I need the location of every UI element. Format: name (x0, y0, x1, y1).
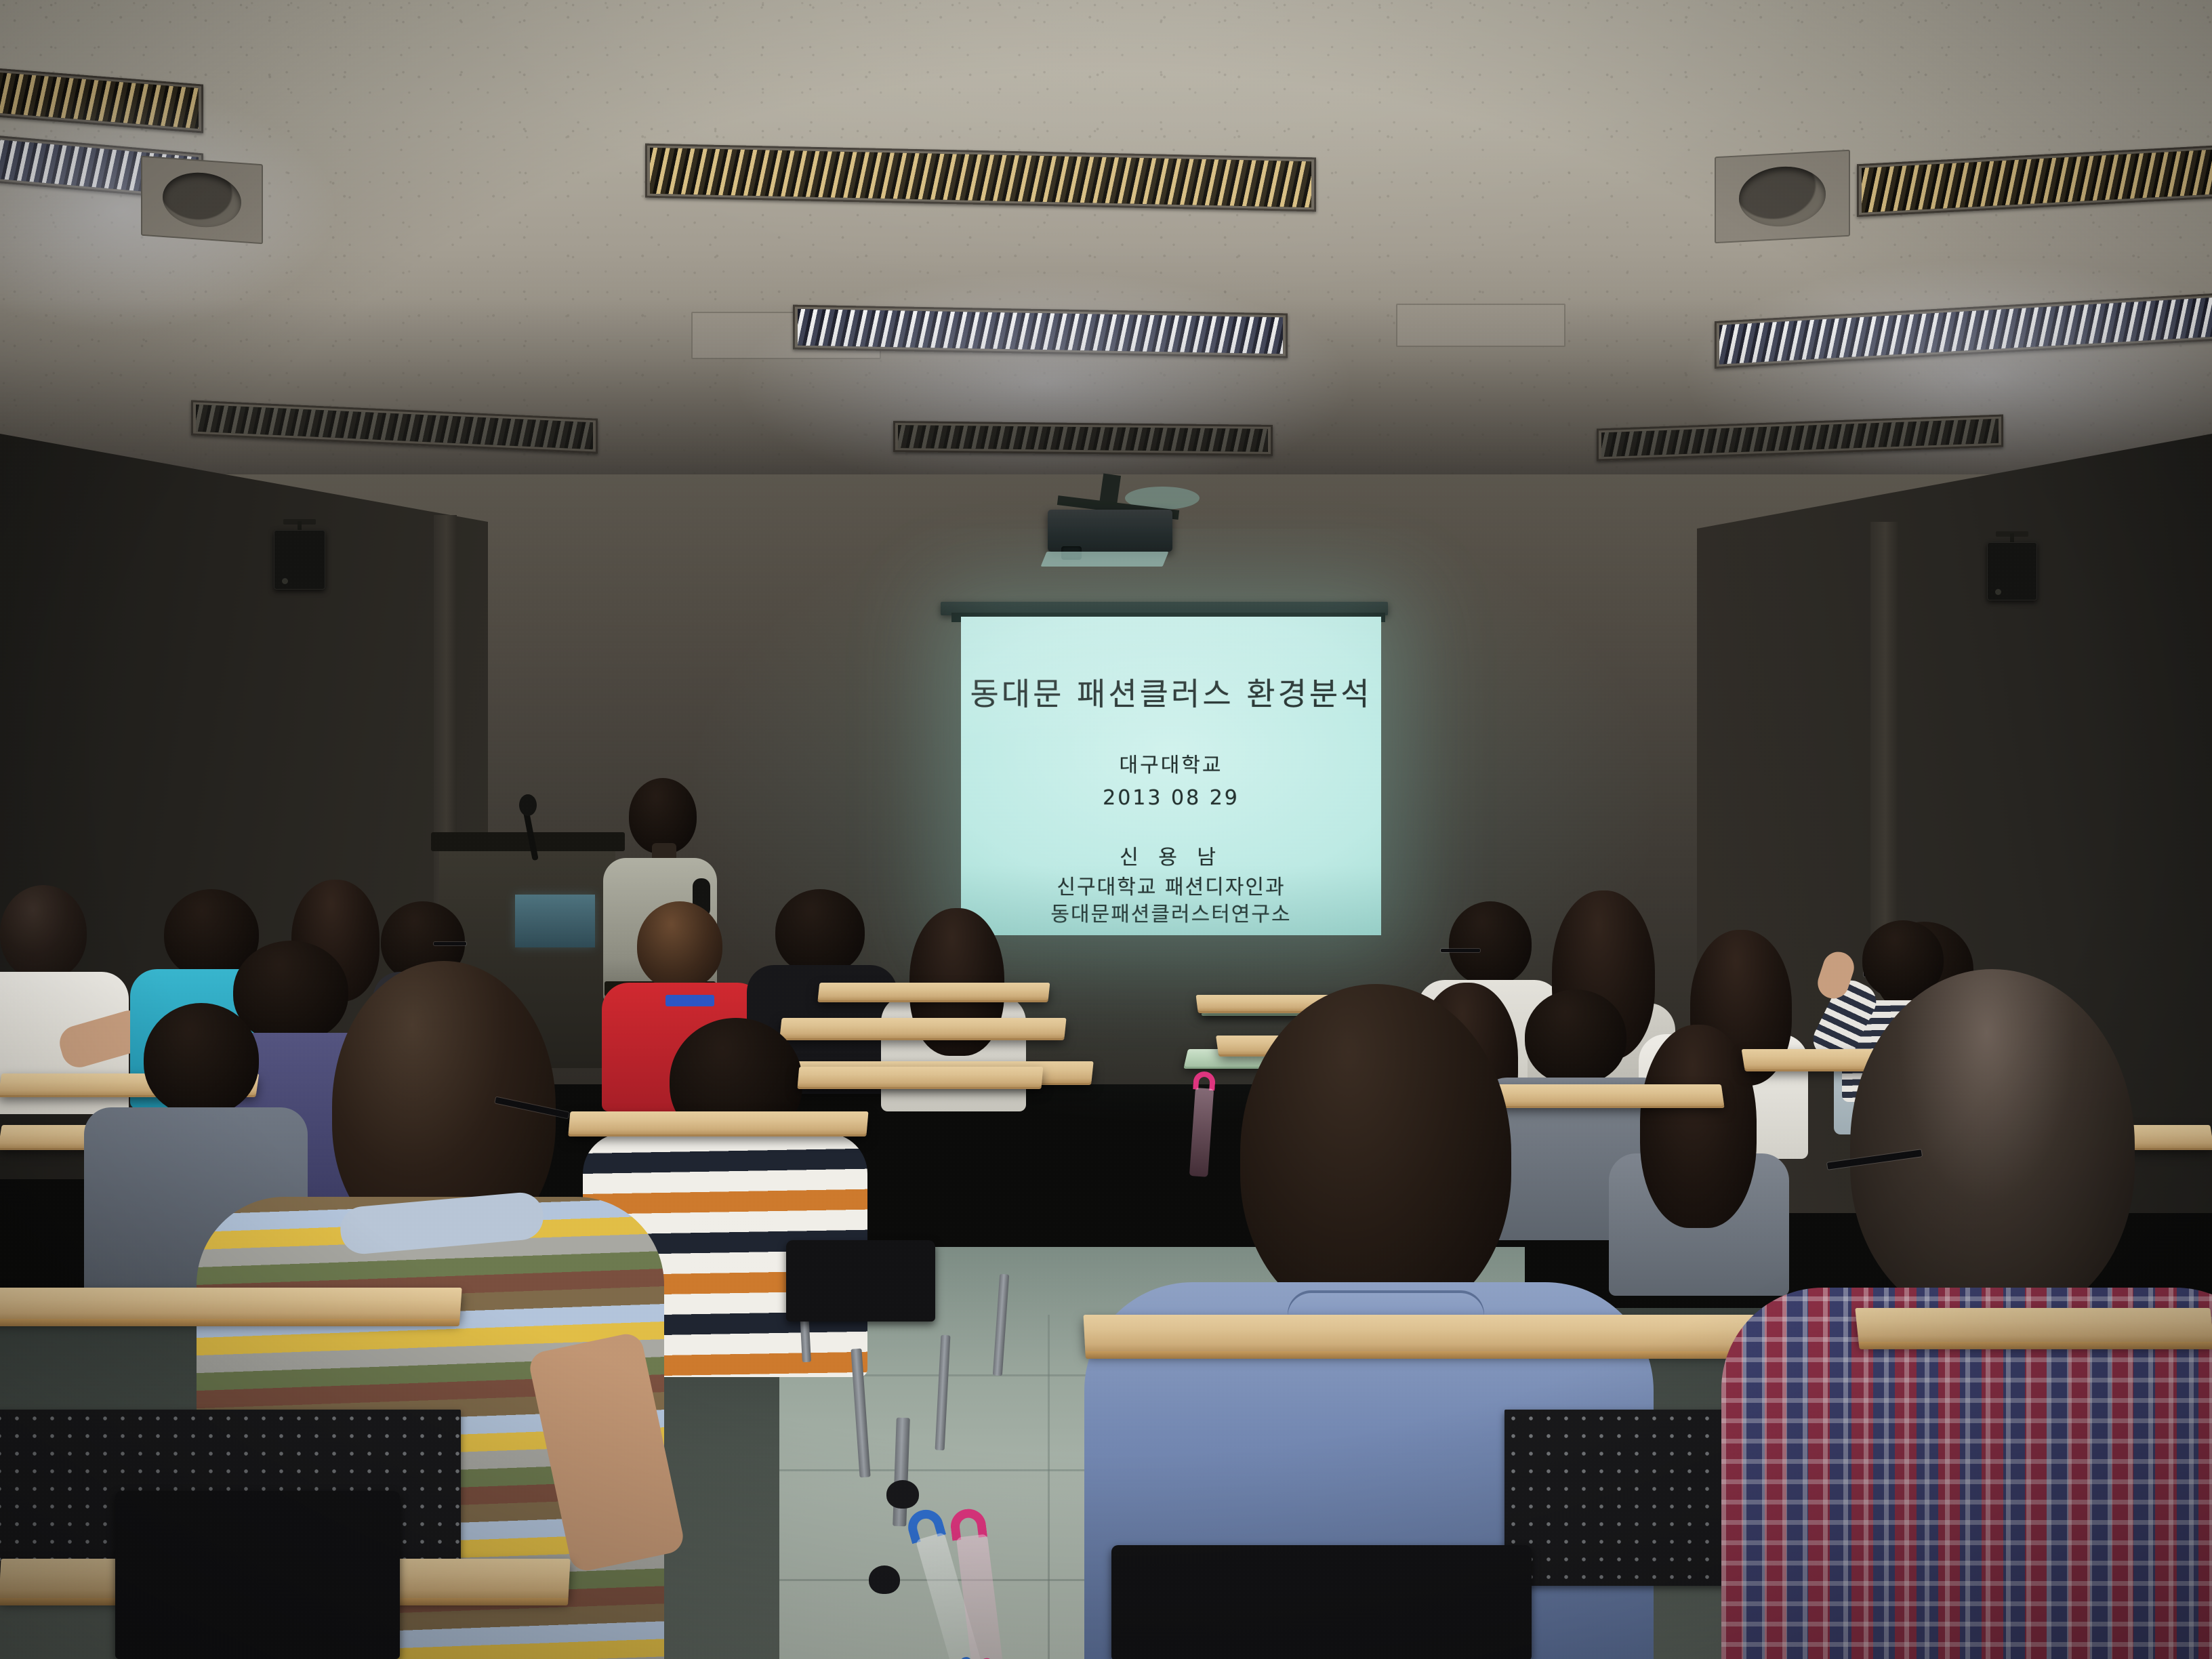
projector-light-spill (1041, 552, 1169, 567)
screen-shading (961, 617, 1381, 935)
chair-caster-2 (869, 1565, 900, 1594)
red-tee-graphic (665, 995, 714, 1006)
ceiling-falloff (0, 0, 2212, 542)
desk-foreground-right (1855, 1308, 2212, 1343)
projection-screen: 동대문 패션클러스 환경분석 대구대학교 2013 08 29 신 용 남 신구… (961, 617, 1381, 935)
wall-speaker-left (274, 530, 325, 590)
lectern-laptop-screen (515, 895, 595, 947)
chair-foreground-center (1111, 1545, 1532, 1659)
desk-mid-center-2 (798, 1067, 1044, 1087)
microphone-head (519, 794, 537, 816)
chair-caster-1 (886, 1480, 919, 1509)
floor-tile-seam-v1 (1048, 1315, 1050, 1659)
chair-foreground-left (115, 1491, 400, 1659)
ceiling-projector (1048, 510, 1172, 552)
desk-back-left (818, 983, 1050, 1000)
desk-foreground-left (0, 1288, 462, 1320)
lecture-hall-photo: 동대문 패션클러스 환경분석 대구대학교 2013 08 29 신 용 남 신구… (0, 0, 2212, 1659)
chair-aisle-left (786, 1240, 935, 1322)
wall-speaker-right (1987, 542, 2037, 600)
